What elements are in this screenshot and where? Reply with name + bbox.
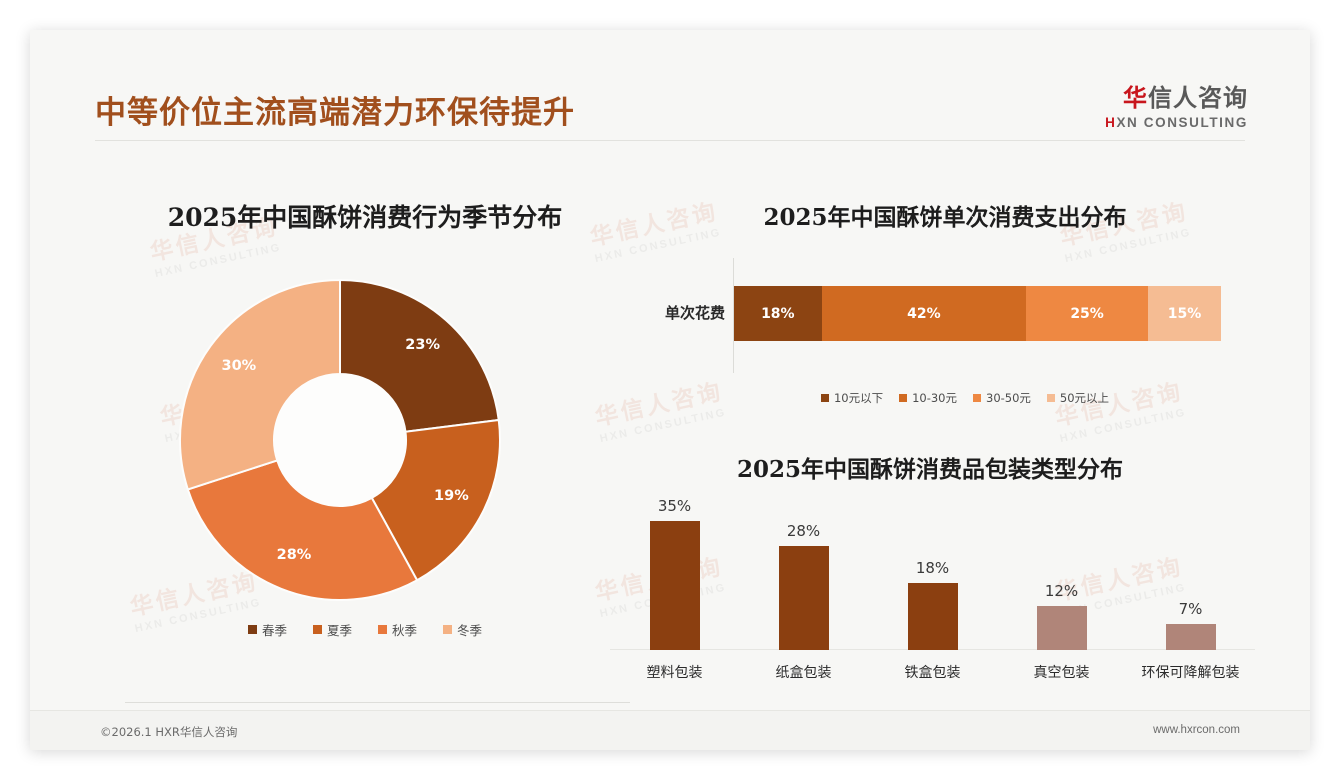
legend-swatch-icon (821, 394, 829, 402)
donut-slice-label: 19% (431, 488, 471, 504)
legend-item[interactable]: 10元以下 (821, 390, 883, 406)
chart-spend-distribution: 2025年中国酥饼单次消费支出分布 单次花费 18%42%25%15% 10元以… (630, 180, 1260, 425)
legend-label: 50元以上 (1060, 390, 1109, 406)
legend-item[interactable]: 10-30元 (899, 390, 957, 406)
logo-en-accent: H (1105, 115, 1116, 130)
footnote-divider-top (125, 702, 630, 703)
website-link[interactable]: www.hxrcon.com (1153, 724, 1240, 736)
chart-title: 2025年中国酥饼单次消费支出分布 (630, 198, 1260, 232)
chart-title: 2025年中国酥饼消费行为季节分布 (85, 198, 645, 234)
legend-label: 30-50元 (986, 390, 1031, 406)
legend-item[interactable]: 春季 (248, 620, 287, 639)
column-value-label: 28% (739, 522, 868, 540)
copyright-text: ©2026.1 HXR华信人咨询 (100, 724, 237, 740)
column-group: 7% (1126, 502, 1255, 650)
stacked-bar-segment[interactable]: 15% (1148, 286, 1221, 341)
donut-chart: 23%19%28%30% (175, 275, 505, 605)
chart-seasonal-distribution: 2025年中国酥饼消费行为季节分布 23%19%28%30% 春季夏季秋季冬季 (85, 180, 645, 680)
stacked-bar: 18%42%25%15% (734, 286, 1221, 341)
category-label: 单次花费 (630, 302, 725, 323)
column-group: 35% (610, 502, 739, 650)
legend-item[interactable]: 秋季 (378, 620, 417, 639)
column-bar[interactable] (1166, 624, 1216, 650)
column-category-label: 纸盒包装 (739, 662, 868, 682)
logo-english: HXN CONSULTING (1105, 115, 1248, 130)
slide-canvas: 华信人咨询 HXN CONSULTING 华信人咨询 HXN CONSULTIN… (30, 30, 1310, 750)
column-bar[interactable] (779, 546, 829, 650)
column-bar[interactable] (650, 521, 700, 651)
legend-label: 秋季 (392, 620, 417, 639)
legend-swatch-icon (1047, 394, 1055, 402)
logo-chinese-rest: 信人咨询 (1148, 84, 1248, 112)
legend-swatch-icon (443, 625, 452, 634)
donut-slice-label: 30% (219, 358, 259, 374)
donut-slice-label: 23% (403, 337, 443, 353)
header-divider (95, 140, 1245, 141)
column-category-label: 真空包装 (997, 662, 1126, 682)
legend-list: 10元以下10-30元30-50元50元以上 (715, 390, 1215, 406)
column-category-label: 铁盒包装 (868, 662, 997, 682)
legend-item[interactable]: 30-50元 (973, 390, 1031, 406)
legend-item[interactable]: 冬季 (443, 620, 482, 639)
brand-logo: 华信人咨询 HXN CONSULTING (1105, 86, 1248, 130)
page-title: 中等价位主流高端潜力环保待提升 (95, 87, 575, 132)
stacked-bar-segment[interactable]: 42% (822, 286, 1027, 341)
column-chart-plot: 35%28%18%12%7% 塑料包装纸盒包装铁盒包装真空包装环保可降解包装 (610, 502, 1255, 692)
donut-slice-label: 28% (274, 547, 314, 563)
chart-packaging-types: 2025年中国酥饼消费品包装类型分布 35%28%18%12%7% 塑料包装纸盒… (600, 440, 1260, 700)
legend-item[interactable]: 夏季 (313, 620, 352, 639)
stacked-bar-legend: 10元以下10-30元30-50元50元以上 (715, 390, 1215, 406)
donut-legend: 春季夏季秋季冬季 (85, 620, 645, 639)
column-category-label: 塑料包装 (610, 662, 739, 682)
logo-en-rest: XN CONSULTING (1116, 115, 1248, 130)
legend-swatch-icon (899, 394, 907, 402)
legend-swatch-icon (248, 625, 257, 634)
column-value-label: 18% (868, 559, 997, 577)
column-value-label: 12% (997, 582, 1126, 600)
legend-swatch-icon (378, 625, 387, 634)
slide-footer: ©2026.1 HXR华信人咨询 www.hxrcon.com (30, 710, 1310, 750)
stacked-bar-segment[interactable]: 18% (734, 286, 822, 341)
column-category-label: 环保可降解包装 (1126, 662, 1255, 682)
legend-label: 10-30元 (912, 390, 957, 406)
column-value-label: 35% (610, 497, 739, 515)
legend-label: 10元以下 (834, 390, 883, 406)
legend-item[interactable]: 50元以上 (1047, 390, 1109, 406)
column-value-label: 7% (1126, 600, 1255, 618)
stacked-bar-segment[interactable]: 25% (1026, 286, 1148, 341)
legend-swatch-icon (313, 625, 322, 634)
logo-accent-char: 华 (1123, 84, 1148, 112)
column-group: 12% (997, 502, 1126, 650)
column-bar[interactable] (1037, 606, 1087, 650)
column-group: 18% (868, 502, 997, 650)
donut-hole (274, 374, 406, 506)
legend-swatch-icon (973, 394, 981, 402)
legend-label: 冬季 (457, 620, 482, 639)
logo-chinese: 华信人咨询 (1105, 86, 1248, 111)
column-bar[interactable] (908, 583, 958, 650)
legend-list: 春季夏季秋季冬季 (85, 620, 645, 639)
chart-title: 2025年中国酥饼消费品包装类型分布 (600, 450, 1260, 484)
column-group: 28% (739, 502, 868, 650)
stacked-bar-plot: 单次花费 18%42%25%15% (630, 258, 1260, 373)
legend-label: 夏季 (327, 620, 352, 639)
slide-header: 中等价位主流高端潜力环保待提升 华信人咨询 HXN CONSULTING (30, 30, 1310, 125)
legend-label: 春季 (262, 620, 287, 639)
